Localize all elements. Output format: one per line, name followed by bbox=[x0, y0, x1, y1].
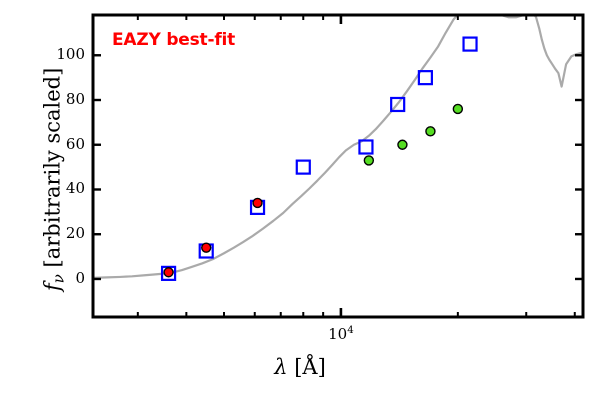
model-photometry-square bbox=[419, 71, 432, 84]
x-axis-label: λ [Å] bbox=[0, 355, 600, 379]
observed-photometry-green-circle bbox=[398, 140, 407, 149]
observed-photometry-red-circle bbox=[164, 268, 173, 277]
observed-photometry-green-circle bbox=[453, 104, 462, 113]
x-axis-label-lambda: λ bbox=[274, 355, 287, 379]
y-tick-label: 80 bbox=[45, 90, 85, 108]
observed-photometry-green-circle bbox=[364, 156, 373, 165]
marker-layer bbox=[162, 38, 476, 280]
x-axis-label-unit: [Å] bbox=[294, 355, 326, 379]
model-photometry-square bbox=[297, 161, 310, 174]
observed-photometry-green-circle bbox=[426, 127, 435, 136]
y-tick-label: 40 bbox=[45, 179, 85, 197]
figure-sed-plot: EAZY best-fit fν [arbitrarily scaled] λ … bbox=[0, 0, 600, 400]
x-tick-label: 104 bbox=[311, 325, 371, 343]
model-photometry-square bbox=[464, 38, 477, 51]
annotation-eazy-best-fit: EAZY best-fit bbox=[112, 30, 235, 50]
observed-photometry-red-circle bbox=[253, 198, 262, 207]
y-tick-label: 0 bbox=[45, 269, 85, 287]
y-tick-label: 60 bbox=[45, 135, 85, 153]
y-tick-label: 100 bbox=[45, 45, 85, 63]
observed-photometry-red-circle bbox=[202, 243, 211, 252]
y-tick-label: 20 bbox=[45, 224, 85, 242]
plot-canvas bbox=[0, 0, 600, 400]
